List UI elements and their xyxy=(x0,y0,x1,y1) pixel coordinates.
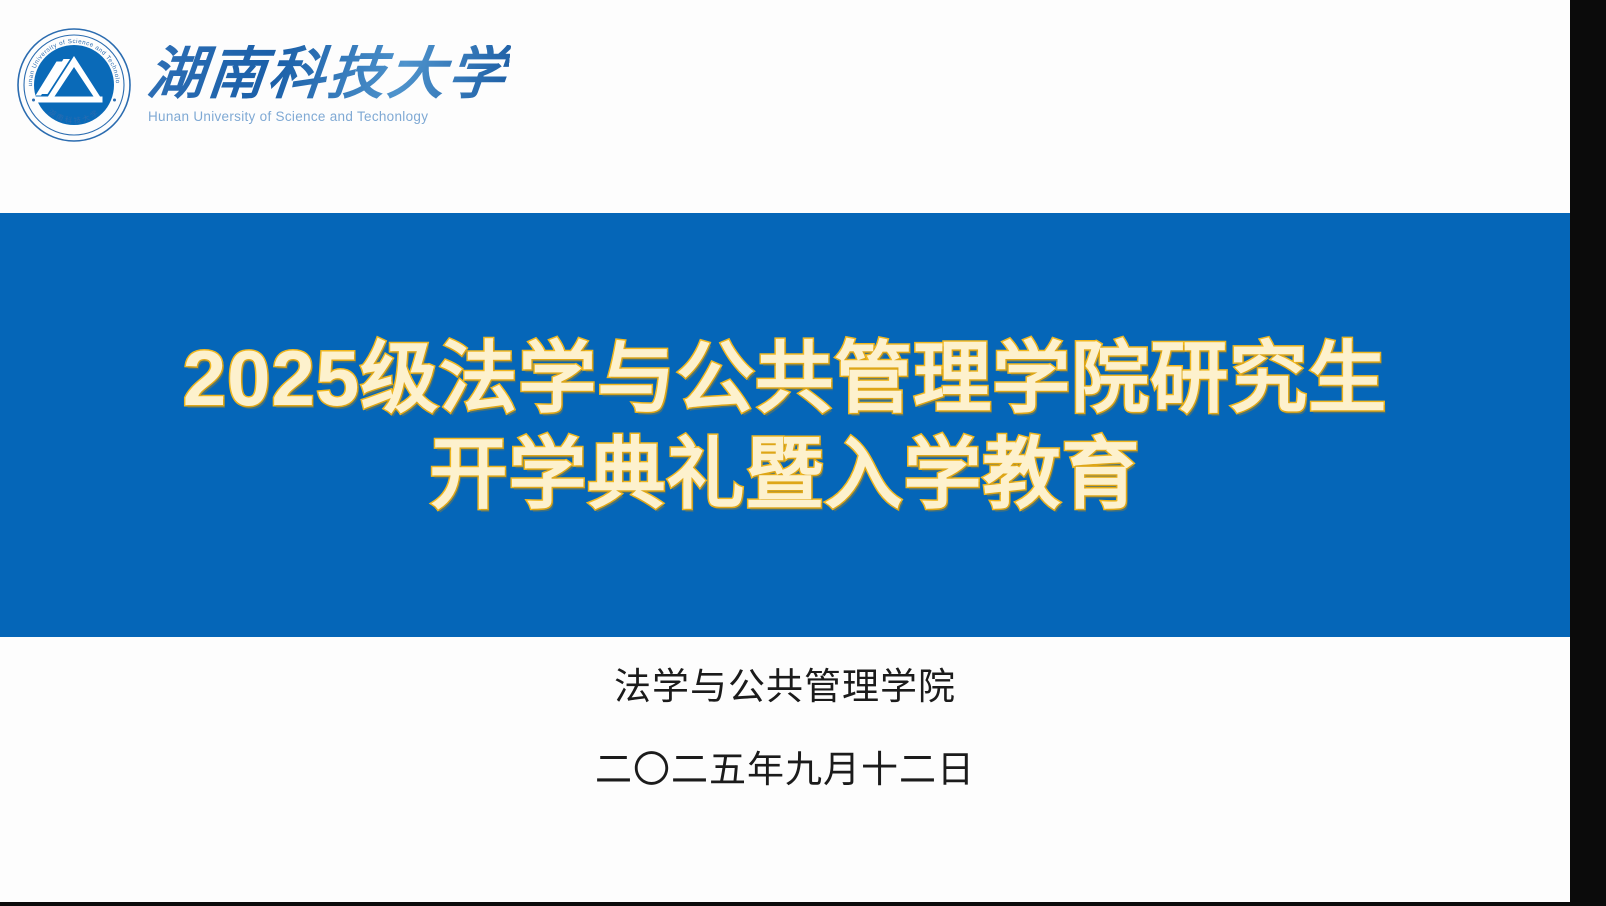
slide-title-line-1: 2025级法学与公共管理学院研究生 xyxy=(183,332,1388,426)
slide-title-line-2: 开学典礼暨入学教育 xyxy=(429,428,1140,522)
footer-organization: 法学与公共管理学院 xyxy=(614,668,956,705)
university-logo-lockup: Hunan University of Science and Technolo… xyxy=(14,22,474,147)
university-name-chinese: 湖南科技大学 xyxy=(145,45,511,105)
university-wordmark: 湖南科技大学 Hunan University of Science and T… xyxy=(148,45,508,125)
title-banner: 2025级法学与公共管理学院研究生 开学典礼暨入学教育 xyxy=(0,213,1570,637)
slide-footer: 法学与公共管理学院 二〇二五年九月十二日 xyxy=(0,668,1570,788)
university-name-english: Hunan University of Science and Techonlo… xyxy=(148,109,428,124)
slide-right-edge-strip xyxy=(1570,0,1606,906)
university-seal-icon: Hunan University of Science and Technolo… xyxy=(14,25,134,145)
slide-bottom-edge-strip xyxy=(0,902,1606,906)
footer-date: 二〇二五年九月十二日 xyxy=(595,751,975,788)
presentation-slide: Hunan University of Science and Technolo… xyxy=(0,0,1606,906)
